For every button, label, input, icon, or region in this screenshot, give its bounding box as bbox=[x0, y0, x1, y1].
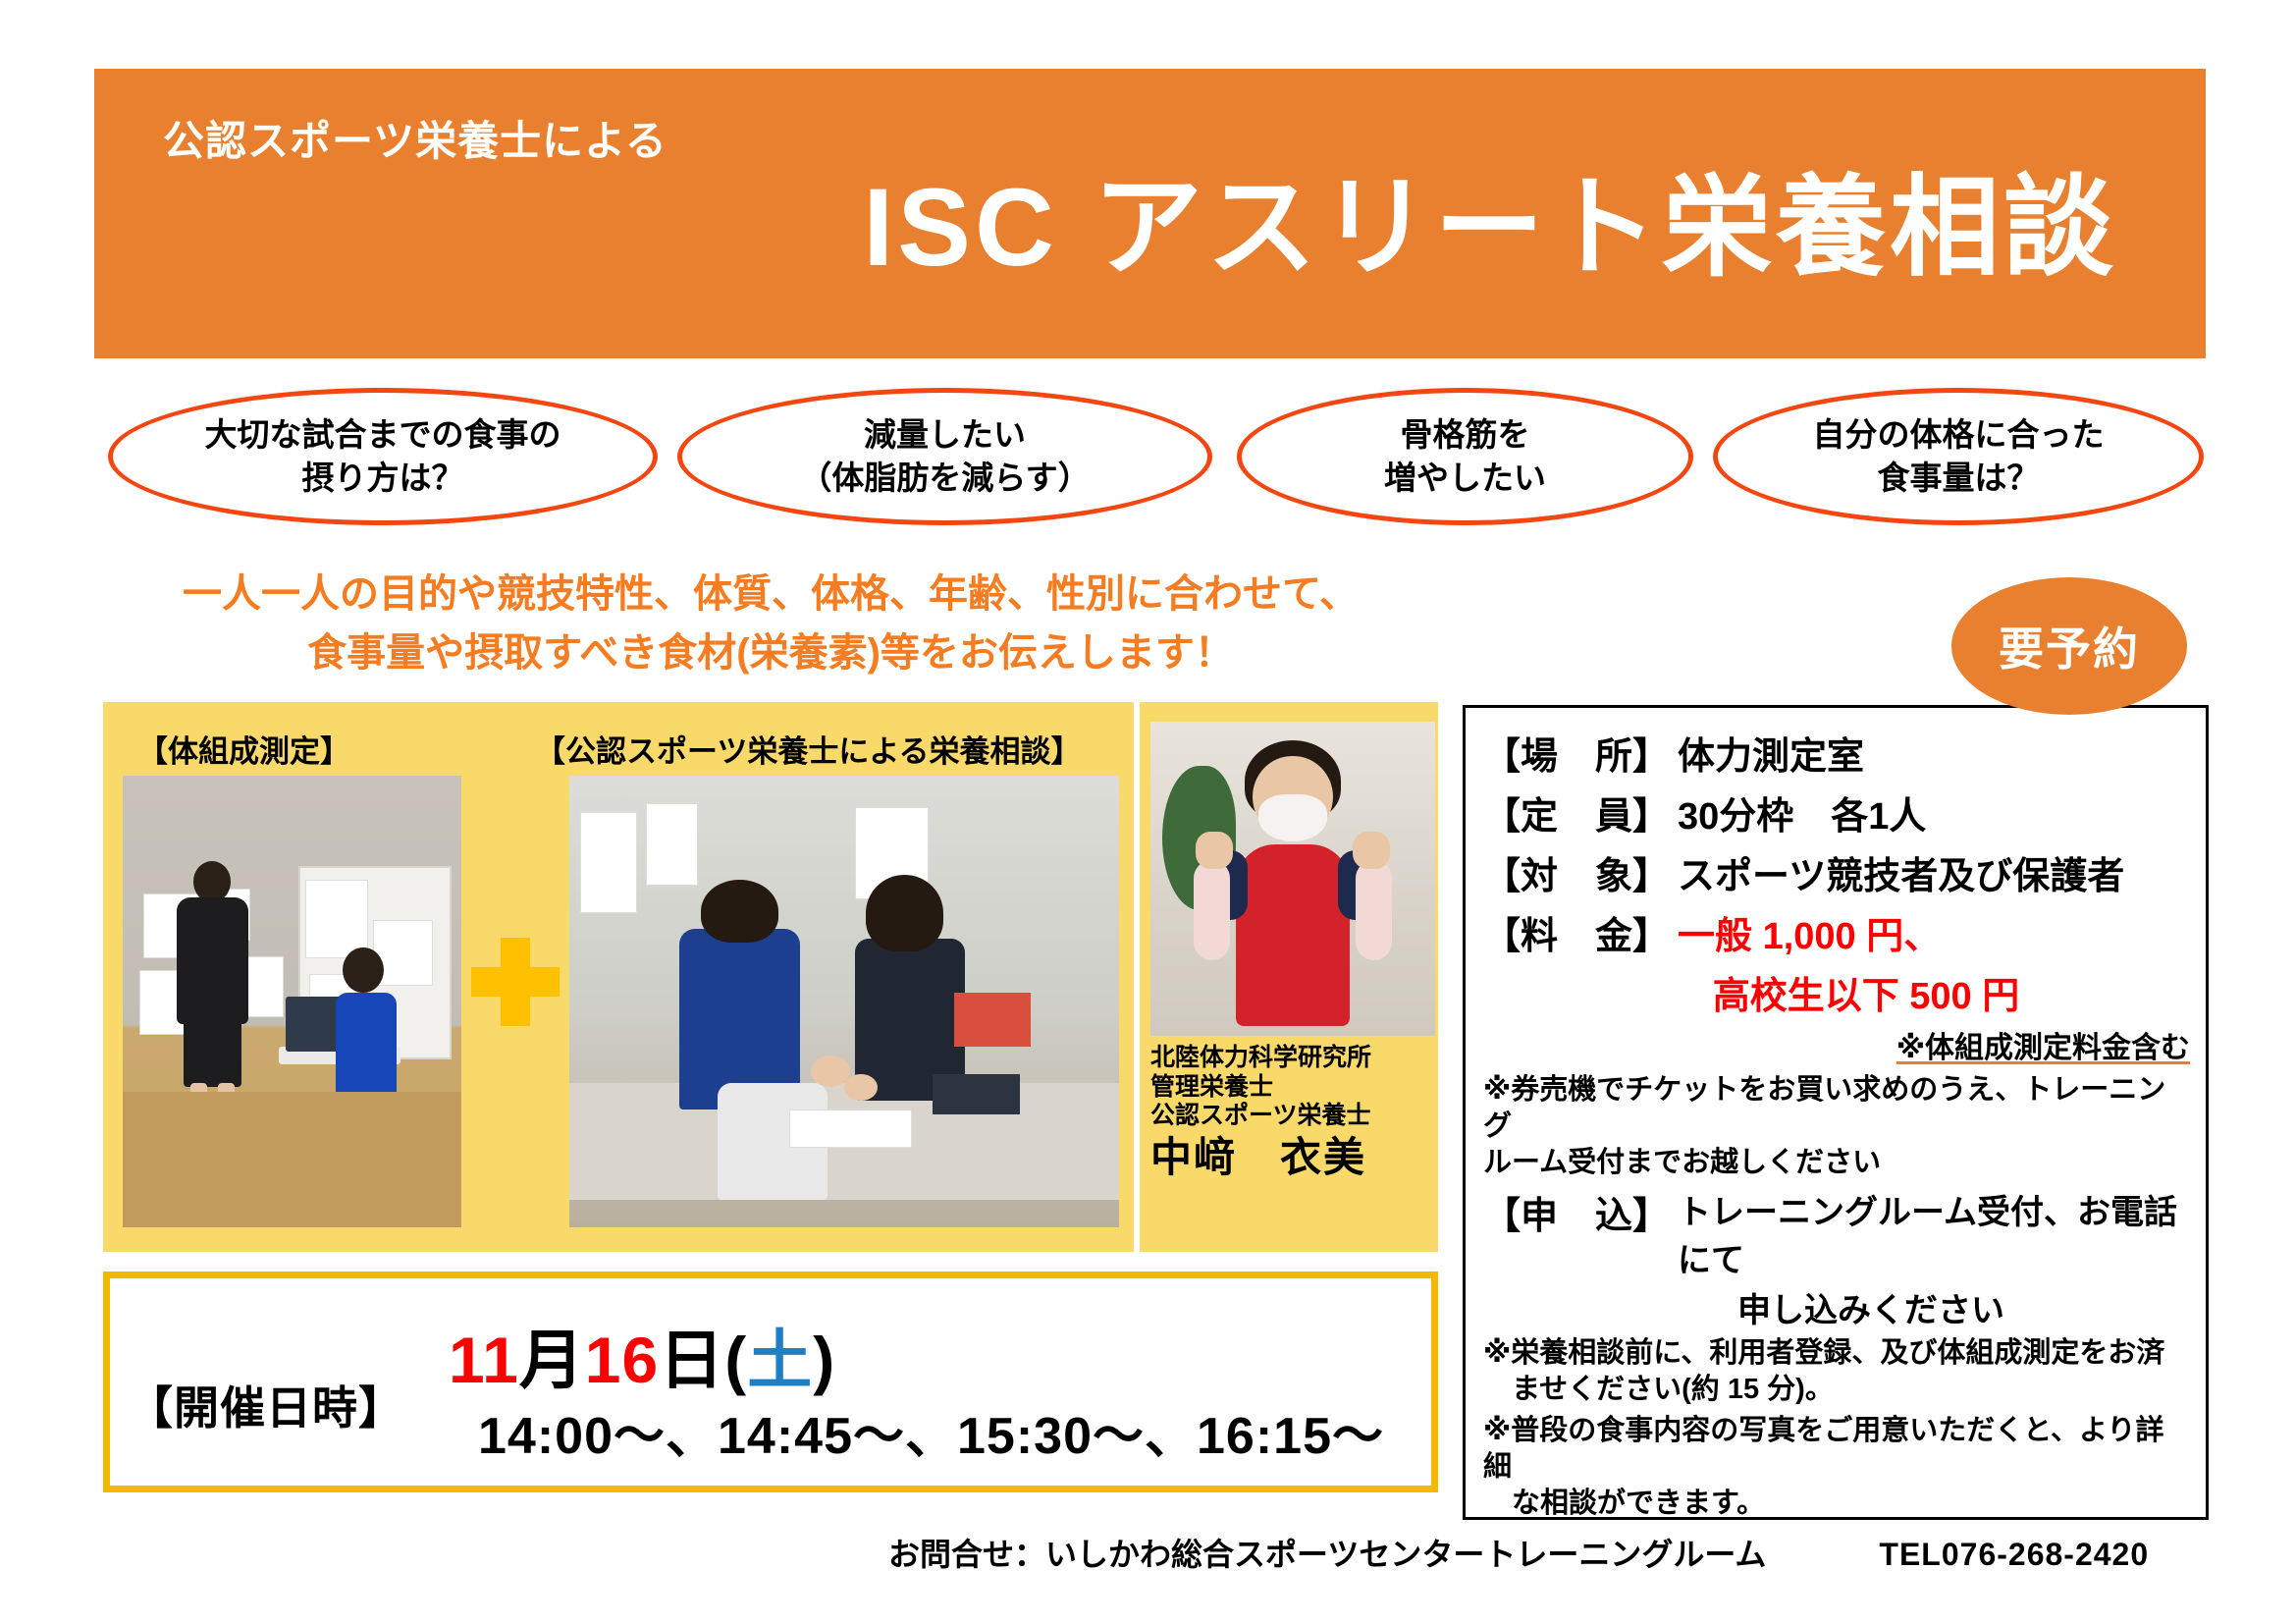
date-paren-close: ) bbox=[813, 1324, 835, 1396]
info-row-apply: 【申 込】 トレーニングルーム受付、お電話にて bbox=[1483, 1185, 2190, 1281]
bubble-label: 大切な試合までの食事の 摂り方は？ bbox=[205, 413, 561, 499]
date-day: 16 bbox=[585, 1324, 659, 1396]
nutritionist-credit: 北陸体力科学研究所 管理栄養士 公認スポーツ栄養士 中﨑 衣美 bbox=[1150, 1044, 1435, 1181]
date-value: 11月16日(土) bbox=[449, 1308, 835, 1402]
info-label-capacity: 【定 員】 bbox=[1483, 785, 1670, 839]
info-row-target: 【対 象】 スポーツ競技者及び保護者 bbox=[1483, 845, 2190, 899]
info-value-capacity: 30分枠 各1人 bbox=[1678, 785, 1926, 839]
poster-root: 公認スポーツ栄養士による ISC アスリート栄養相談 大切な試合までの食事の 摂… bbox=[0, 0, 2296, 1624]
footer-telephone: TEL076-268-2420 bbox=[1879, 1537, 2149, 1572]
info-value-target: スポーツ競技者及び保護者 bbox=[1678, 845, 2124, 899]
credit-qualification-1: 管理栄養士 bbox=[1150, 1073, 1435, 1103]
photo-nutritionist-portrait bbox=[1150, 722, 1435, 1036]
plus-icon bbox=[471, 938, 560, 1026]
header-kicker: 公認スポーツ栄養士による bbox=[163, 108, 667, 168]
info-label-fee: 【料 金】 bbox=[1483, 905, 1670, 959]
info-row-fee: 【料 金】 一般 1,000 円、 bbox=[1483, 905, 2190, 959]
reservation-required-badge: 要予約 bbox=[1951, 577, 2187, 715]
footer-contact: お問合せ：いしかわ総合スポーツセンタートレーニングルームTEL076-268-2… bbox=[888, 1530, 2149, 1575]
tagline: 一人一人の目的や競技特性、体質、体格、年齢、性別に合わせて、 食事量や摂取すべき… bbox=[118, 565, 1423, 682]
info-value-apply: トレーニングルーム受付、お電話にて bbox=[1678, 1185, 2190, 1281]
info-row-capacity: 【定 員】 30分枠 各1人 bbox=[1483, 785, 2190, 839]
date-box: 【開催日時】 11月16日(土) 14:00〜、14:45〜、15:30〜、16… bbox=[103, 1272, 1438, 1492]
info-value-fee-student: 高校生以下 500 円 bbox=[1483, 965, 2190, 1019]
photo-body-composition bbox=[123, 776, 461, 1227]
credit-name: 中﨑 衣美 bbox=[1150, 1133, 1435, 1182]
info-value-apply-2: 申し込みください bbox=[1483, 1283, 2190, 1331]
info-note-meal-photo: ※普段の食事内容の写真をご用意いただくと、より詳細 な相談ができます。 bbox=[1483, 1413, 2190, 1522]
photo-label-consultation: 【公認スポーツ栄養士による栄養相談】 bbox=[535, 727, 1081, 771]
bubble-weight-loss: 減量したい （体脂肪を減らす） bbox=[677, 388, 1212, 525]
date-day-unit: 日 bbox=[659, 1324, 724, 1396]
info-row-place: 【場 所】 体力測定室 bbox=[1483, 726, 2190, 780]
page-title: ISC アスリート栄養相談 bbox=[94, 167, 2137, 288]
date-paren-open: ( bbox=[724, 1324, 747, 1396]
info-box: 【場 所】 体力測定室 【定 員】 30分枠 各1人 【対 象】 スポーツ競技者… bbox=[1463, 705, 2209, 1520]
info-note-ticket: ※券売機でチケットをお買い求めのうえ、トレーニング ルーム受付までお越しください bbox=[1483, 1072, 2190, 1181]
bubble-meal-timing: 大切な試合までの食事の 摂り方は？ bbox=[108, 388, 658, 525]
panel-divider bbox=[1134, 702, 1140, 1252]
credit-qualification-2: 公認スポーツ栄養士 bbox=[1150, 1102, 1435, 1131]
bubble-label: 自分の体格に合った 食事量は？ bbox=[1813, 413, 2105, 499]
bubble-muscle-gain: 骨格筋を 増やしたい bbox=[1237, 388, 1693, 525]
bubble-portion-size: 自分の体格に合った 食事量は？ bbox=[1713, 388, 2204, 525]
question-bubbles: 大切な試合までの食事の 摂り方は？ 減量したい （体脂肪を減らす） 骨格筋を 増… bbox=[88, 388, 2218, 535]
bubble-label: 骨格筋を 増やしたい bbox=[1384, 413, 1546, 499]
info-value-place: 体力測定室 bbox=[1678, 726, 1864, 780]
info-label-place: 【場 所】 bbox=[1483, 726, 1670, 780]
date-month-unit: 月 bbox=[519, 1324, 585, 1396]
date-time-slots: 14:00〜、14:45〜、15:30〜、16:15〜 bbox=[478, 1394, 1384, 1468]
date-month: 11 bbox=[449, 1324, 519, 1396]
info-label-target: 【対 象】 bbox=[1483, 845, 1670, 899]
credit-organization: 北陸体力科学研究所 bbox=[1150, 1044, 1435, 1073]
photo-label-body-composition: 【体組成測定】 bbox=[137, 727, 350, 771]
photo-nutrition-consultation bbox=[569, 776, 1119, 1227]
header-band: 公認スポーツ栄養士による ISC アスリート栄養相談 bbox=[94, 69, 2206, 358]
date-weekday: 土 bbox=[747, 1324, 813, 1396]
info-note-fee-included: ※体組成測定料金含む bbox=[1483, 1023, 2190, 1066]
date-label: 【開催日時】 bbox=[128, 1373, 404, 1437]
bubble-label: 減量したい （体脂肪を減らす） bbox=[799, 413, 1090, 499]
info-note-pre-consultation: ※栄養相談前に、利用者登録、及び体組成測定をお済 ませください(約 15 分)。 bbox=[1483, 1335, 2190, 1408]
footer-contact-text: お問合せ：いしかわ総合スポーツセンタートレーニングルーム bbox=[888, 1537, 1766, 1572]
info-value-fee-general: 一般 1,000 円、 bbox=[1678, 905, 1941, 959]
info-label-apply: 【申 込】 bbox=[1483, 1185, 1670, 1239]
